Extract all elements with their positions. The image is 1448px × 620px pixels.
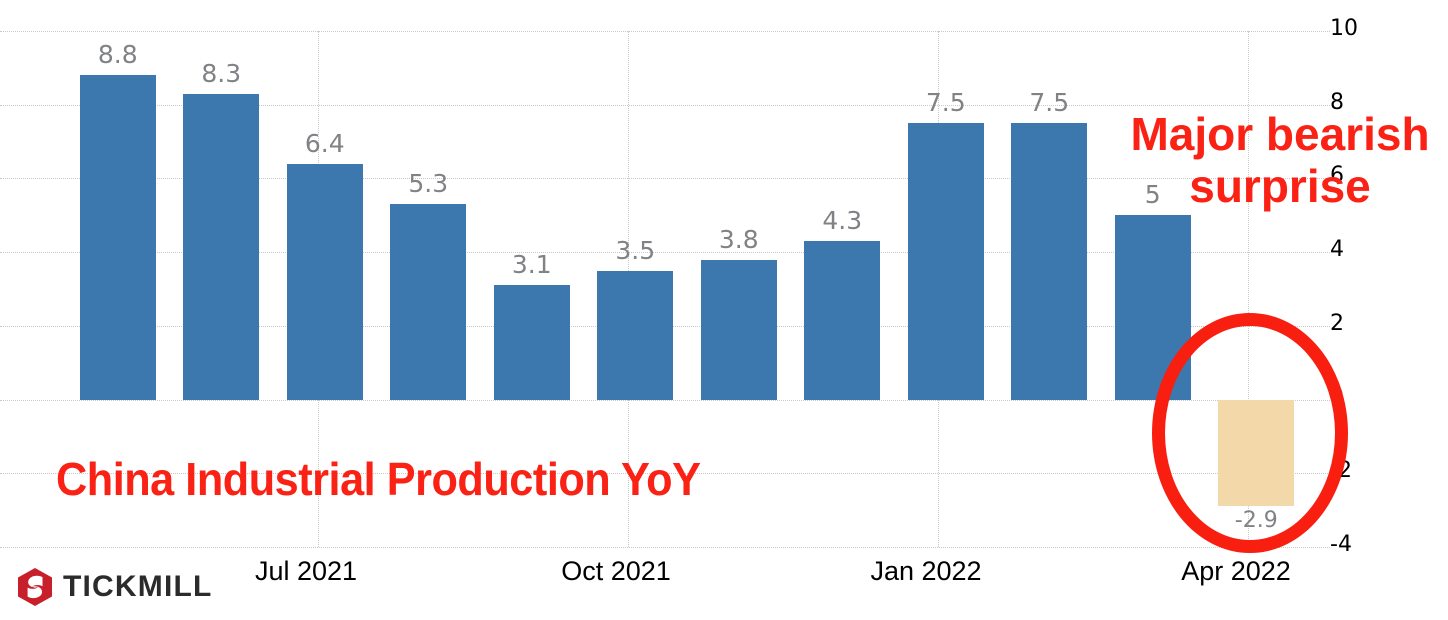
chart-canvas: 8.88.36.45.33.13.53.84.37.57.55-2.9 1086… — [0, 0, 1448, 620]
y-axis-tick-label: 10 — [1330, 16, 1358, 41]
gridline-h--4 — [0, 547, 1330, 548]
bar-value-label: 6.4 — [265, 129, 385, 158]
bar-value-label: 3.5 — [575, 236, 695, 265]
bar-value-label: 7.5 — [886, 88, 1006, 117]
bar-value-label: 7.5 — [989, 88, 1109, 117]
tickmill-wordmark: TICKMILL — [63, 570, 213, 604]
tickmill-logo: TICKMILL — [18, 568, 213, 606]
bar — [183, 94, 259, 400]
bar — [494, 285, 570, 399]
bar — [390, 204, 466, 399]
bar — [287, 164, 363, 400]
highlight-ellipse — [1152, 313, 1348, 553]
bar-value-label: 4.3 — [782, 206, 902, 235]
x-axis-tick-label: Jan 2022 — [870, 556, 981, 587]
x-axis-tick-label: Jul 2021 — [255, 556, 357, 587]
tickmill-hexagon-icon — [18, 568, 52, 606]
callout-line-2: surprise — [1120, 160, 1440, 212]
bar — [597, 271, 673, 400]
bar — [804, 241, 880, 399]
callout-annotation: Major bearish surprise — [1120, 108, 1440, 212]
bar-value-label: 8.8 — [58, 40, 178, 69]
bar-value-label: 3.1 — [472, 250, 592, 279]
y-axis-tick-label: -4 — [1330, 532, 1352, 557]
bar — [701, 260, 777, 400]
callout-line-1: Major bearish — [1120, 108, 1440, 160]
bar — [80, 75, 156, 399]
gridline-h-0 — [0, 400, 1330, 401]
chart-title: China Industrial Production YoY — [56, 452, 700, 506]
bar — [908, 123, 984, 399]
x-axis-tick-label: Oct 2021 — [561, 556, 671, 587]
y-axis-tick-label: 2 — [1330, 311, 1344, 336]
bar-value-label: 8.3 — [161, 59, 281, 88]
bar-value-label: 5.3 — [368, 169, 488, 198]
y-axis-tick-label: 4 — [1330, 237, 1344, 262]
gridline-h-10 — [0, 31, 1330, 32]
x-axis-tick-label: Apr 2022 — [1181, 556, 1291, 587]
bar — [1011, 123, 1087, 399]
bar-value-label: 3.8 — [679, 225, 799, 254]
